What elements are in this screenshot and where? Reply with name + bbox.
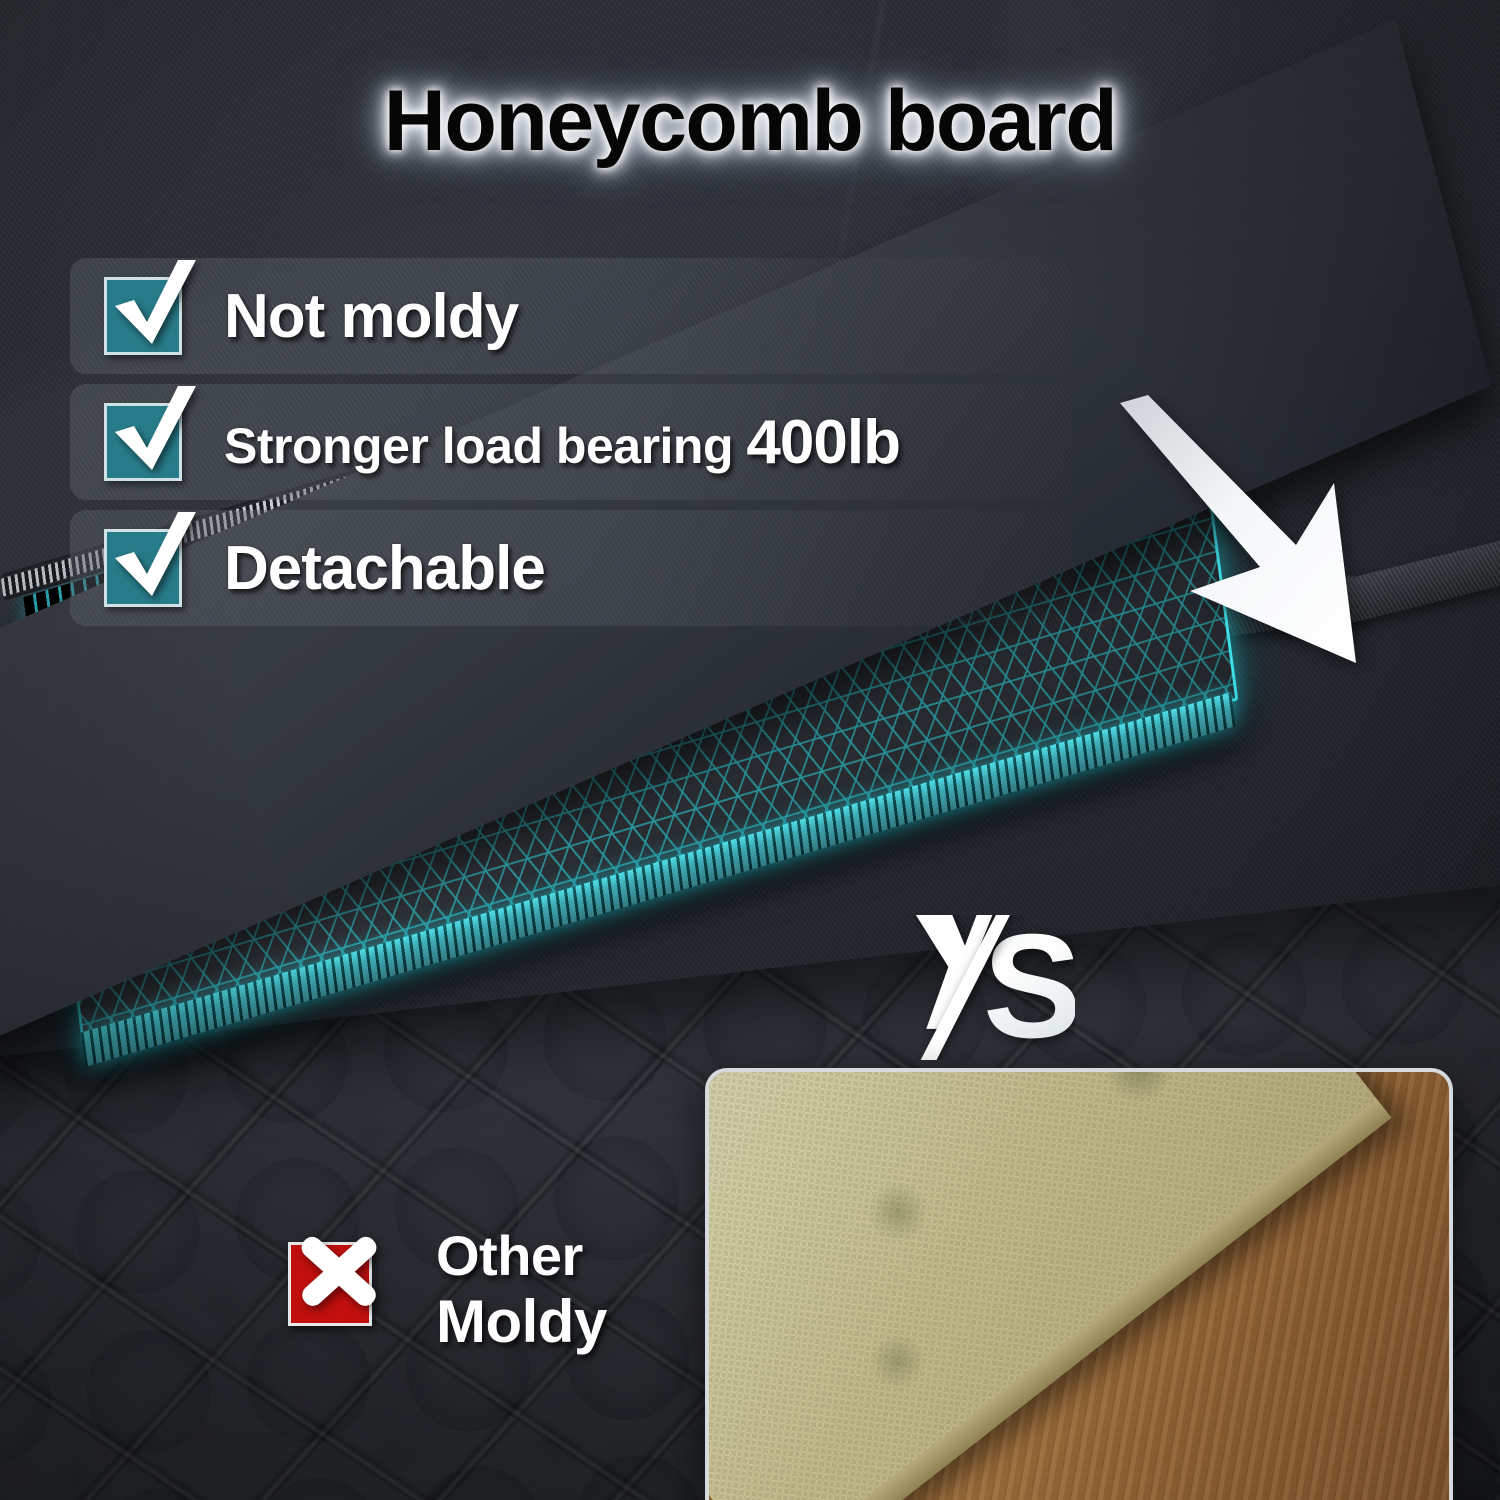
feature-label: Not moldy: [224, 281, 518, 352]
feature-row: Not moldy: [70, 258, 1070, 374]
check-mark-icon: [104, 529, 182, 607]
feature-label: Stronger load bearing 400lb: [224, 407, 900, 478]
other-product-text: Other Moldy: [436, 1228, 607, 1359]
product-feature-graphic: Honeycomb board Not moldy Stronger load …: [0, 0, 1500, 1500]
x-mark-icon: [288, 1242, 372, 1326]
moldy-label: Moldy: [436, 1284, 607, 1359]
feature-label-text: Stronger load bearing: [224, 418, 746, 474]
moldy-board-photo: [705, 1068, 1453, 1500]
versus-badge: S: [895, 915, 1075, 1060]
feature-row: Detachable: [70, 510, 1070, 626]
other-label: Other: [436, 1228, 607, 1284]
page-title: Honeycomb board: [0, 72, 1500, 171]
feature-label-emphasis: 400lb: [746, 408, 900, 477]
feature-label: Detachable: [224, 533, 545, 604]
check-mark-icon: [104, 277, 182, 355]
feature-row: Stronger load bearing 400lb: [70, 384, 1070, 500]
feature-list: Not moldy Stronger load bearing 400lb De…: [70, 258, 1070, 636]
check-mark-icon: [104, 403, 182, 481]
